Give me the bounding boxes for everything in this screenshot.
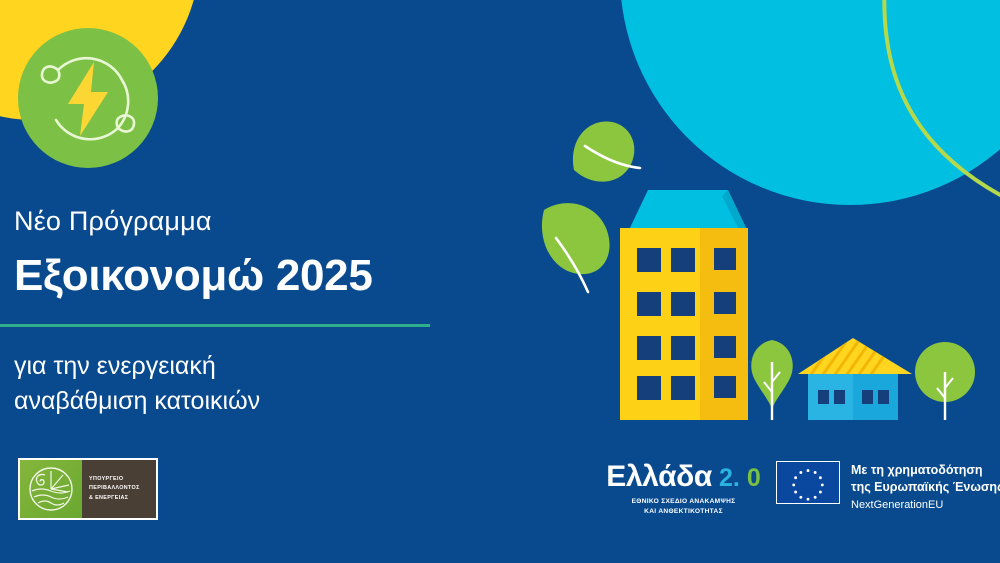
rooftop-slab (628, 190, 748, 232)
sun-over-water-emblem (27, 465, 75, 513)
ellada-version-zero: 0 (747, 464, 761, 493)
ministry-line-1: ΥΠΟΥΡΓΕΙΟ (89, 475, 156, 484)
energy-recycle-bolt-icon (18, 28, 158, 168)
ministry-of-environment-and-energy-logo: ΥΠΟΥΡΓΕΙΟ ΠΕΡΙΒΑΛΛΟΝΤΟΣ & ΕΝΕΡΓΕΙΑΣ (18, 458, 158, 520)
eyebrow-text: Νέο Πρόγραμμα (14, 205, 484, 237)
promo-banner: Νέο Πρόγραμμα Εξοικονομώ 2025 για την εν… (0, 0, 1000, 563)
apartment-building-icon (620, 228, 748, 420)
ministry-line-2: ΠΕΡΙΒΑΛΛΟΝΤΟΣ (89, 484, 156, 493)
tree-icon (751, 340, 793, 420)
ministry-wordmark: ΥΠΟΥΡΓΕΙΟ ΠΕΡΙΒΑΛΛΟΝΤΟΣ & ΕΝΕΡΓΕΙΑΣ (82, 460, 156, 518)
eu-funding-line-1: Με τη χρηματοδότηση (851, 462, 1000, 479)
next-generation-eu-label: NextGenerationEU (851, 499, 1000, 511)
title-divider (0, 324, 430, 327)
headline-block: Νέο Πρόγραμμα Εξοικονομώ 2025 για την εν… (14, 205, 484, 420)
subline-second: αναβάθμιση κατοικιών (14, 384, 484, 420)
ellada-wordmark: Ελλάδα (606, 460, 712, 494)
leaf-icon (542, 203, 610, 292)
leaf-icon (573, 122, 640, 182)
eu-stars-icon (777, 462, 839, 503)
ellada-subtitle-1: ΕΘΝΙΚΟ ΣΧΕΔΙΟ ΑΝΑΚΑΜΨΗΣ (596, 497, 771, 507)
ellada-2-0-logo: Ελλάδα 2. 0 ΕΘΝΙΚΟ ΣΧΕΔΙΟ ΑΝΑΚΑΜΨΗΣ ΚΑΙ … (596, 460, 771, 517)
cyan-blob-decoration (620, 0, 1000, 205)
ministry-emblem (20, 460, 82, 518)
tree-icon (915, 342, 975, 420)
subline-first: για την ενεργειακή (14, 349, 484, 385)
ministry-line-3: & ΕΝΕΡΓΕΙΑΣ (89, 494, 156, 503)
page-title: Εξοικονομώ 2025 (14, 251, 484, 302)
european-union-flag (776, 461, 840, 504)
solar-house-icon (798, 336, 912, 420)
ellada-version-two: 2. (719, 464, 740, 493)
eu-funding-line-2: της Ευρωπαϊκής Ένωσης (851, 479, 1000, 496)
ellada-subtitle-2: ΚΑΙ ΑΝΘΕΚΤΙΚΟΤΗΤΑΣ (596, 507, 771, 517)
eu-funding-logo: Με τη χρηματοδότηση της Ευρωπαϊκής Ένωση… (776, 461, 1000, 511)
